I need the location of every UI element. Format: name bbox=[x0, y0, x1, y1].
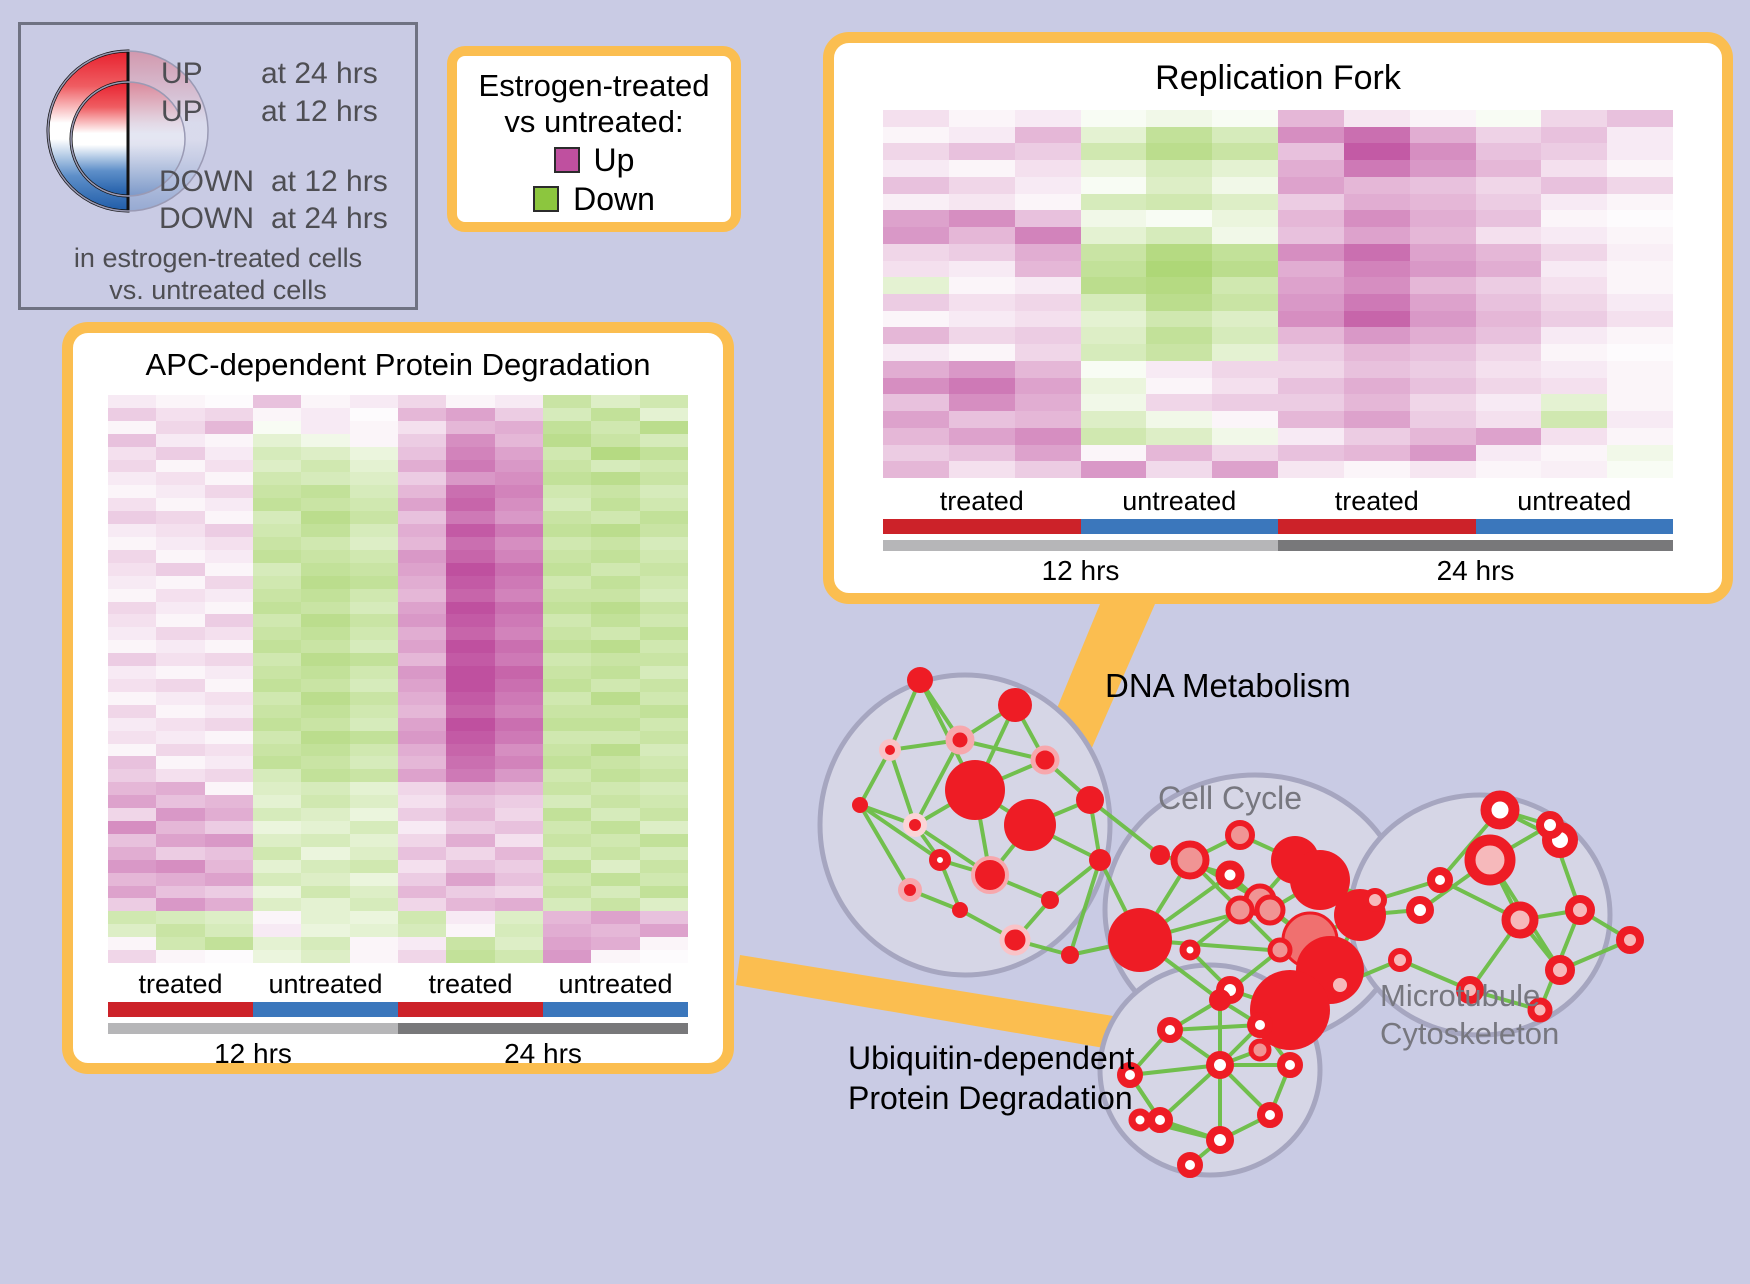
heatmap-cell bbox=[591, 950, 639, 963]
heatmap-cell bbox=[949, 461, 1015, 478]
heatmap-cell bbox=[446, 602, 494, 615]
heatmap-cell bbox=[1081, 127, 1147, 144]
heatmap-cell bbox=[446, 718, 494, 731]
heatmap-cell bbox=[205, 640, 253, 653]
heatmap-cell bbox=[1607, 327, 1673, 344]
heatmap-cell bbox=[640, 563, 688, 576]
wheel-footer-line2: vs. untreated cells bbox=[21, 275, 415, 307]
heatmap-cell bbox=[1344, 261, 1410, 278]
heatmap-cell bbox=[301, 795, 349, 808]
heatmap-cell bbox=[640, 576, 688, 589]
heatmap-cell bbox=[591, 911, 639, 924]
heatmap-cell bbox=[591, 602, 639, 615]
heatmap-cell bbox=[1344, 461, 1410, 478]
heatmap-cell bbox=[446, 524, 494, 537]
heatmap-cell bbox=[543, 718, 591, 731]
heatmap-cell bbox=[301, 898, 349, 911]
heatmap-cell bbox=[1212, 143, 1278, 160]
heatmap-cell bbox=[640, 679, 688, 692]
heatmap-cell bbox=[108, 898, 156, 911]
heatmap-cell bbox=[1410, 461, 1476, 478]
heatmap-cell bbox=[1476, 428, 1542, 445]
heatmap-cell bbox=[1476, 461, 1542, 478]
heatmap-cell bbox=[495, 705, 543, 718]
heatmap-cell bbox=[1410, 428, 1476, 445]
heatmap-cell bbox=[1278, 110, 1344, 127]
heatmap-cell bbox=[253, 421, 301, 434]
heatmap-cell bbox=[1015, 227, 1081, 244]
heatmap-cell bbox=[446, 679, 494, 692]
heatmap-cell bbox=[301, 614, 349, 627]
heatmap-cell bbox=[205, 821, 253, 834]
group-bar-segment-3 bbox=[1476, 519, 1674, 534]
heatmap-cell bbox=[640, 924, 688, 937]
heatmap-cell bbox=[1344, 311, 1410, 328]
heatmap-cell bbox=[1410, 294, 1476, 311]
heatmap-cell bbox=[1344, 177, 1410, 194]
heatmap-cell bbox=[1081, 311, 1147, 328]
heatmap-cell bbox=[108, 873, 156, 886]
heatmap-cell bbox=[108, 434, 156, 447]
heatmap-cell bbox=[1146, 461, 1212, 478]
heatmap-cell bbox=[543, 563, 591, 576]
heatmap-cell bbox=[543, 434, 591, 447]
heatmap-cell bbox=[1146, 311, 1212, 328]
heatmap-cell bbox=[205, 666, 253, 679]
heatmap-cell bbox=[350, 434, 398, 447]
heatmap-cell bbox=[156, 472, 204, 485]
heatmap-cell bbox=[108, 447, 156, 460]
heatmap-cell bbox=[205, 460, 253, 473]
heatmap-cell bbox=[156, 692, 204, 705]
heatmap-cell bbox=[1015, 344, 1081, 361]
heatmap-cell bbox=[301, 447, 349, 460]
heatmap-cell bbox=[640, 795, 688, 808]
heatmap-cell bbox=[1015, 110, 1081, 127]
heatmap-cell bbox=[108, 679, 156, 692]
heatmap-cell bbox=[640, 898, 688, 911]
heatmap-cell bbox=[495, 911, 543, 924]
heatmap-cell bbox=[108, 692, 156, 705]
heatmap-cell bbox=[398, 821, 446, 834]
heatmap-cell bbox=[205, 447, 253, 460]
heatmap-cell bbox=[253, 434, 301, 447]
heatmap-cell bbox=[350, 847, 398, 860]
up-color-swatch bbox=[554, 147, 580, 173]
heatmap-cell bbox=[1541, 461, 1607, 478]
heatmap-cell bbox=[398, 937, 446, 950]
group-bar-segment-2 bbox=[398, 1002, 543, 1017]
heatmap-cell bbox=[1541, 445, 1607, 462]
heatmap-cell bbox=[253, 911, 301, 924]
heatmap-cell bbox=[883, 311, 949, 328]
heatmap-cell bbox=[156, 744, 204, 757]
heatmap-cell bbox=[253, 602, 301, 615]
heatmap-cell bbox=[640, 860, 688, 873]
heatmap-cell bbox=[883, 394, 949, 411]
heatmap-cell bbox=[1146, 194, 1212, 211]
heatmap-cell bbox=[253, 886, 301, 899]
heatmap-cell bbox=[1278, 311, 1344, 328]
heatmap-cell bbox=[205, 485, 253, 498]
heatmap-cell bbox=[949, 327, 1015, 344]
heatmap-cell bbox=[446, 705, 494, 718]
heatmap-cell bbox=[495, 537, 543, 550]
heatmap-cell bbox=[640, 666, 688, 679]
heatmap-cell bbox=[1410, 227, 1476, 244]
heatmap-cell bbox=[543, 821, 591, 834]
heatmap-cell bbox=[1146, 210, 1212, 227]
heatmap-cell bbox=[1541, 194, 1607, 211]
heatmap-cell bbox=[591, 937, 639, 950]
heatmap-cell bbox=[1081, 378, 1147, 395]
heatmap-cell bbox=[108, 472, 156, 485]
heatmap-cell bbox=[1607, 361, 1673, 378]
heatmap-cell bbox=[446, 408, 494, 421]
heatmap-cell bbox=[446, 731, 494, 744]
heatmap-cell bbox=[1344, 110, 1410, 127]
heatmap-cell bbox=[495, 937, 543, 950]
heatmap-cell bbox=[253, 524, 301, 537]
heatmap-cell bbox=[301, 524, 349, 537]
heatmap-cell bbox=[1607, 277, 1673, 294]
heatmap-cell bbox=[1015, 261, 1081, 278]
heatmap-cell bbox=[495, 898, 543, 911]
heatmap-cell bbox=[446, 485, 494, 498]
heatmap-cell bbox=[301, 640, 349, 653]
heatmap-cell bbox=[108, 937, 156, 950]
heatmap-cell bbox=[1081, 411, 1147, 428]
heatmap-cell bbox=[253, 460, 301, 473]
heatmap-cell bbox=[1410, 327, 1476, 344]
heatmap-cell bbox=[1541, 143, 1607, 160]
heatmap-cell bbox=[398, 550, 446, 563]
heatmap-cell bbox=[495, 795, 543, 808]
heatmap-cell bbox=[301, 472, 349, 485]
heatmap-cell bbox=[1278, 294, 1344, 311]
heatmap-cell bbox=[949, 311, 1015, 328]
heatmap-cell bbox=[1146, 227, 1212, 244]
heatmap-cell bbox=[543, 602, 591, 615]
heatmap-cell bbox=[1212, 244, 1278, 261]
heatmap-cell bbox=[253, 640, 301, 653]
heatmap-cell bbox=[883, 428, 949, 445]
heatmap-cell bbox=[350, 472, 398, 485]
heatmap-cell bbox=[1212, 127, 1278, 144]
heatmap-cell bbox=[1081, 461, 1147, 478]
heatmap-cell bbox=[1278, 210, 1344, 227]
heatmap-cell bbox=[640, 744, 688, 757]
heatmap-cell bbox=[1081, 445, 1147, 462]
heatmap-cell bbox=[1607, 194, 1673, 211]
heatmap-cell bbox=[543, 898, 591, 911]
heatmap-cell bbox=[350, 614, 398, 627]
heatmap-cell bbox=[253, 563, 301, 576]
heatmap-cell bbox=[1607, 127, 1673, 144]
heatmap-cell bbox=[1015, 394, 1081, 411]
heatmap-cell bbox=[301, 847, 349, 860]
heatmap-cell bbox=[1541, 127, 1607, 144]
heatmap-cell bbox=[1541, 244, 1607, 261]
heatmap-cell bbox=[640, 782, 688, 795]
network-svg bbox=[800, 610, 1750, 1279]
heatmap-cell bbox=[253, 666, 301, 679]
heatmap-cell bbox=[446, 821, 494, 834]
heatmap-cell bbox=[398, 847, 446, 860]
heatmap-cell bbox=[301, 924, 349, 937]
heatmap-cell bbox=[301, 950, 349, 963]
heatmap-cell bbox=[1607, 311, 1673, 328]
heatmap-cell bbox=[446, 950, 494, 963]
heatmap-cell bbox=[883, 277, 949, 294]
heatmap-cell bbox=[350, 744, 398, 757]
heatmap-cell bbox=[446, 472, 494, 485]
heatmap-cell bbox=[640, 692, 688, 705]
heatmap-cell bbox=[1146, 177, 1212, 194]
heatmap-cell bbox=[1476, 210, 1542, 227]
heatmap-cell bbox=[205, 576, 253, 589]
heatmap-cell bbox=[1146, 261, 1212, 278]
heatmap-cell bbox=[350, 950, 398, 963]
time-bar-segment-1 bbox=[398, 1023, 688, 1034]
heatmap-cell bbox=[205, 756, 253, 769]
heatmap-cell bbox=[1541, 227, 1607, 244]
heatmap-cell bbox=[543, 614, 591, 627]
heatmap-cell bbox=[446, 911, 494, 924]
heatmap-cell bbox=[591, 834, 639, 847]
heatmap-cell bbox=[350, 705, 398, 718]
heatmap-cell bbox=[495, 653, 543, 666]
heatmap-cell bbox=[1015, 311, 1081, 328]
heatmap-cell bbox=[156, 460, 204, 473]
heatmap-cell bbox=[108, 602, 156, 615]
heatmap-cell bbox=[1278, 227, 1344, 244]
heatmap-cell bbox=[1015, 160, 1081, 177]
heatmap-cell bbox=[1015, 277, 1081, 294]
heatmap-cell bbox=[591, 731, 639, 744]
heatmap-cell bbox=[205, 937, 253, 950]
heatmap-cell bbox=[543, 589, 591, 602]
heatmap-cell bbox=[350, 731, 398, 744]
heatmap-cell bbox=[156, 898, 204, 911]
heatmap-cell bbox=[495, 614, 543, 627]
group-labels-apc: treated untreated treated untreated bbox=[108, 969, 688, 1000]
heatmap-cell bbox=[156, 421, 204, 434]
heatmap-cell bbox=[350, 460, 398, 473]
heatmap-cell bbox=[1541, 327, 1607, 344]
heatmap-cell bbox=[350, 860, 398, 873]
heatmap-cell bbox=[495, 886, 543, 899]
heatmap-cell bbox=[883, 411, 949, 428]
panel-title-replication-fork: Replication Fork bbox=[834, 59, 1722, 98]
heatmap-cell bbox=[640, 718, 688, 731]
heatmap-cell bbox=[543, 744, 591, 757]
heatmap-cell bbox=[495, 924, 543, 937]
heatmap-cell bbox=[495, 627, 543, 640]
heatmap-cell bbox=[350, 769, 398, 782]
heatmap-cell bbox=[156, 847, 204, 860]
heatmap-cell bbox=[301, 821, 349, 834]
heatmap-cell bbox=[350, 756, 398, 769]
heatmap-cell bbox=[883, 177, 949, 194]
heatmap-cell bbox=[591, 756, 639, 769]
heatmap-cell bbox=[398, 408, 446, 421]
heatmap-cell bbox=[1410, 361, 1476, 378]
heatmap-cell bbox=[301, 692, 349, 705]
heatmap-cell bbox=[1607, 294, 1673, 311]
heatmap-cell bbox=[446, 395, 494, 408]
heatmap-cell bbox=[1410, 277, 1476, 294]
heatmap-cell bbox=[1015, 294, 1081, 311]
heatmap-cell bbox=[1146, 294, 1212, 311]
heatmap-cell bbox=[398, 627, 446, 640]
heatmap-cell bbox=[350, 485, 398, 498]
heatmap-cell bbox=[398, 447, 446, 460]
heatmap-cell bbox=[640, 873, 688, 886]
heatmap-cell bbox=[1344, 394, 1410, 411]
heatmap-cell bbox=[156, 550, 204, 563]
heatmap-cell bbox=[1541, 177, 1607, 194]
heatmap-cell bbox=[543, 537, 591, 550]
heatmap-cell bbox=[543, 666, 591, 679]
heatmap-replication-fork bbox=[883, 110, 1673, 478]
heatmap-cell bbox=[640, 485, 688, 498]
heatmap-cell bbox=[591, 769, 639, 782]
heatmap-cell bbox=[350, 679, 398, 692]
heatmap-cell bbox=[591, 563, 639, 576]
group-label-apc-2: treated bbox=[398, 969, 543, 1000]
heatmap-cell bbox=[883, 227, 949, 244]
heatmap-cell bbox=[108, 627, 156, 640]
heatmap-cell bbox=[156, 563, 204, 576]
heatmap-cell bbox=[108, 911, 156, 924]
heatmap-cell bbox=[543, 472, 591, 485]
heatmap-cell bbox=[108, 782, 156, 795]
heatmap-cell bbox=[253, 898, 301, 911]
heatmap-cell bbox=[108, 653, 156, 666]
heatmap-cell bbox=[495, 421, 543, 434]
heatmap-cell bbox=[205, 847, 253, 860]
heatmap-cell bbox=[108, 718, 156, 731]
panel-apc-degradation: APC-dependent Protein Degradation treate… bbox=[62, 322, 734, 1074]
heatmap-cell bbox=[108, 756, 156, 769]
heatmap-cell bbox=[350, 576, 398, 589]
heatmap-cell bbox=[253, 821, 301, 834]
heatmap-cell bbox=[1212, 428, 1278, 445]
heatmap-cell bbox=[1541, 294, 1607, 311]
heatmap-cell bbox=[156, 924, 204, 937]
heatmap-cell bbox=[640, 460, 688, 473]
heatmap-cell bbox=[1081, 143, 1147, 160]
heatmap-cell bbox=[1015, 428, 1081, 445]
heatmap-cell bbox=[883, 127, 949, 144]
heatmap-cell bbox=[301, 666, 349, 679]
heatmap-cell bbox=[1146, 127, 1212, 144]
heatmap-cell bbox=[1015, 244, 1081, 261]
heatmap-cell bbox=[446, 447, 494, 460]
heatmap-cell bbox=[301, 911, 349, 924]
heatmap-cell bbox=[108, 705, 156, 718]
heatmap-cell bbox=[1015, 411, 1081, 428]
heatmap-cell bbox=[156, 937, 204, 950]
heatmap-cell bbox=[949, 378, 1015, 395]
heatmap-cell bbox=[1541, 378, 1607, 395]
heatmap-cell bbox=[949, 261, 1015, 278]
heatmap-cell bbox=[640, 950, 688, 963]
group-label-rf-0: treated bbox=[883, 486, 1081, 517]
heatmap-cell bbox=[156, 808, 204, 821]
heatmap-cell bbox=[1344, 127, 1410, 144]
heatmap-cell bbox=[156, 756, 204, 769]
heatmap-cell bbox=[640, 769, 688, 782]
heatmap-cell bbox=[640, 614, 688, 627]
heatmap-cell bbox=[1081, 244, 1147, 261]
group-bar-segment-0 bbox=[883, 519, 1081, 534]
heatmap-cell bbox=[1146, 277, 1212, 294]
heatmap-cell bbox=[1410, 110, 1476, 127]
heatmap-cell bbox=[591, 718, 639, 731]
heatmap-cell bbox=[543, 524, 591, 537]
heatmap-cell bbox=[1476, 127, 1542, 144]
heatmap-cell bbox=[156, 498, 204, 511]
heatmap-cell bbox=[253, 718, 301, 731]
heatmap-cell bbox=[591, 576, 639, 589]
heatmap-cell bbox=[1146, 110, 1212, 127]
heatmap-cell bbox=[205, 769, 253, 782]
heatmap-cell bbox=[301, 395, 349, 408]
heatmap-cell bbox=[1344, 411, 1410, 428]
heatmap-cell bbox=[495, 847, 543, 860]
heatmap-cell bbox=[398, 886, 446, 899]
heatmap-cell bbox=[543, 460, 591, 473]
heatmap-cell bbox=[301, 421, 349, 434]
time-bar-segment-0 bbox=[108, 1023, 398, 1034]
heatmap-cell bbox=[108, 537, 156, 550]
heatmap-cell bbox=[640, 886, 688, 899]
cluster-label-microtubule-line2: Cytoskeleton bbox=[1380, 1016, 1559, 1051]
heatmap-cell bbox=[1607, 394, 1673, 411]
heatmap-cell bbox=[350, 640, 398, 653]
heatmap-cell bbox=[205, 498, 253, 511]
heatmap-cell bbox=[253, 537, 301, 550]
heatmap-cell bbox=[495, 718, 543, 731]
heatmap-cell bbox=[156, 782, 204, 795]
wheel-row-0-time: at 24 hrs bbox=[261, 57, 378, 91]
heatmap-cell bbox=[591, 395, 639, 408]
heatmap-cell bbox=[398, 395, 446, 408]
heatmap-cell bbox=[949, 428, 1015, 445]
heatmap-cell bbox=[446, 576, 494, 589]
group-bar-segment-1 bbox=[253, 1002, 398, 1017]
heatmap-cell bbox=[640, 511, 688, 524]
heatmap-cell bbox=[1541, 210, 1607, 227]
heatmap-cell bbox=[1146, 428, 1212, 445]
heatmap-cell bbox=[543, 408, 591, 421]
heatmap-cell bbox=[591, 860, 639, 873]
heatmap-cell bbox=[156, 537, 204, 550]
heatmap-cell bbox=[591, 460, 639, 473]
heatmap-cell bbox=[1541, 428, 1607, 445]
heatmap-cell bbox=[1015, 210, 1081, 227]
heatmap-cell bbox=[640, 447, 688, 460]
heatmap-cell bbox=[949, 194, 1015, 211]
heatmap-cell bbox=[253, 860, 301, 873]
heatmap-cell bbox=[205, 550, 253, 563]
group-label-rf-1: untreated bbox=[1081, 486, 1279, 517]
heatmap-cell bbox=[301, 498, 349, 511]
heatmap-cell bbox=[398, 924, 446, 937]
heatmap-cell bbox=[591, 924, 639, 937]
